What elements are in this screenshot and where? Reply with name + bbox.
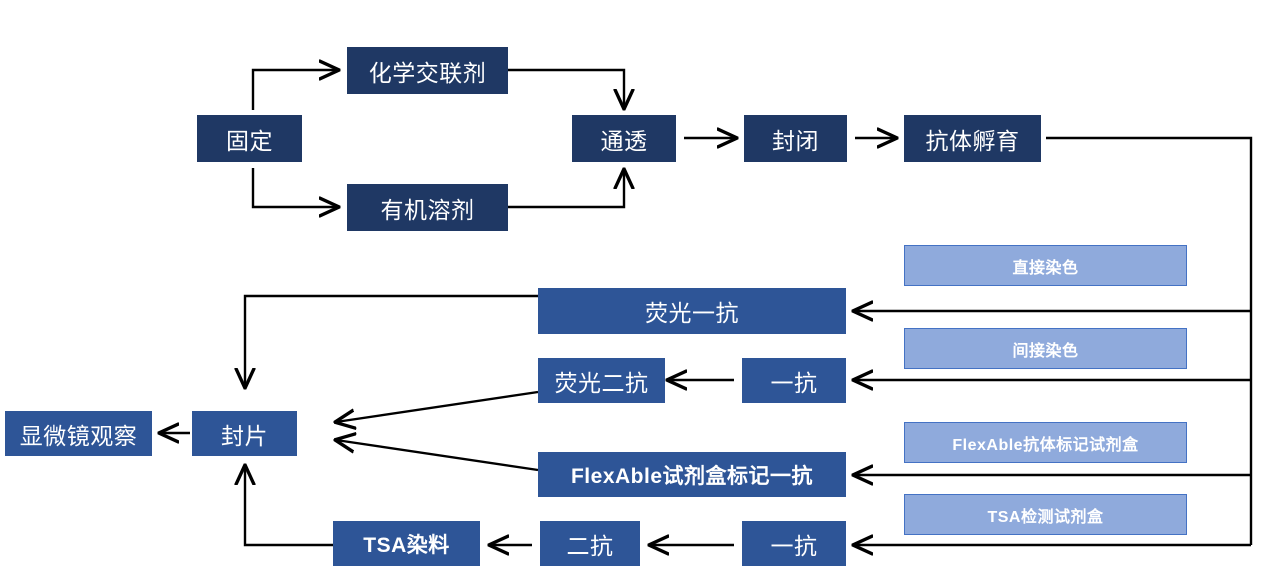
node-tsa-dye-label: TSA染料 bbox=[363, 529, 450, 559]
node-fixation[interactable]: 固定 bbox=[197, 115, 302, 162]
node-chemical-crosslinker[interactable]: 化学交联剂 bbox=[347, 47, 508, 94]
node-secondary-antibody-bottom[interactable]: 二抗 bbox=[540, 521, 640, 566]
node-fixation-label: 固定 bbox=[226, 122, 273, 156]
node-tsa-dye[interactable]: TSA染料 bbox=[333, 521, 480, 566]
node-flexable-labeled-primary-antibody[interactable]: FlexAble试剂盒标记一抗 bbox=[538, 452, 846, 497]
label-indirect-staining-text: 间接染色 bbox=[1012, 337, 1078, 361]
flowchart-canvas: 固定 化学交联剂 有机溶剂 通透 封闭 抗体孵育 直接染色 间接染色 FlexA… bbox=[0, 0, 1262, 585]
node-antibody-incubation-label: 抗体孵育 bbox=[926, 122, 1020, 156]
node-permeabilization[interactable]: 通透 bbox=[572, 115, 676, 162]
node-flexable-labeled-primary-antibody-label: FlexAble试剂盒标记一抗 bbox=[571, 460, 813, 490]
label-tsa-kit[interactable]: TSA检测试剂盒 bbox=[904, 494, 1187, 535]
node-secondary-antibody-bottom-label: 二抗 bbox=[567, 527, 614, 561]
node-microscopy-observation[interactable]: 显微镜观察 bbox=[5, 411, 152, 456]
node-fluorescent-secondary-antibody[interactable]: 荧光二抗 bbox=[538, 358, 665, 403]
connector-flexable-to-mounting bbox=[336, 440, 538, 470]
connector-crosslinker-to-permeabilization bbox=[508, 70, 624, 108]
node-fluorescent-secondary-antibody-label: 荧光二抗 bbox=[555, 364, 649, 398]
node-primary-antibody-middle-label: 一抗 bbox=[771, 364, 818, 398]
label-direct-staining[interactable]: 直接染色 bbox=[904, 245, 1187, 286]
node-fluorescent-primary-antibody[interactable]: 荧光一抗 bbox=[538, 288, 846, 334]
connector-fluor-primary-to-mounting bbox=[245, 296, 538, 387]
node-fluorescent-primary-antibody-label: 荧光一抗 bbox=[645, 294, 739, 328]
label-tsa-kit-text: TSA检测试剂盒 bbox=[987, 503, 1103, 527]
connector-fixation-to-crosslinker bbox=[253, 70, 338, 110]
node-primary-antibody-bottom-label: 一抗 bbox=[771, 527, 818, 561]
connector-fixation-to-solvent bbox=[253, 168, 338, 207]
connector-tsa-to-mounting bbox=[245, 466, 333, 545]
node-antibody-incubation[interactable]: 抗体孵育 bbox=[904, 115, 1041, 162]
node-blocking[interactable]: 封闭 bbox=[744, 115, 847, 162]
node-microscopy-observation-label: 显微镜观察 bbox=[20, 417, 138, 451]
node-mounting[interactable]: 封片 bbox=[192, 411, 297, 456]
label-direct-staining-text: 直接染色 bbox=[1012, 254, 1078, 278]
node-mounting-label: 封片 bbox=[221, 417, 268, 451]
node-primary-antibody-middle[interactable]: 一抗 bbox=[742, 358, 846, 403]
connector-solvent-to-permeabilization bbox=[508, 170, 624, 207]
node-chemical-crosslinker-label: 化学交联剂 bbox=[369, 54, 487, 88]
node-blocking-label: 封闭 bbox=[772, 122, 819, 156]
node-organic-solvent-label: 有机溶剂 bbox=[381, 191, 475, 225]
node-primary-antibody-bottom[interactable]: 一抗 bbox=[742, 521, 846, 566]
node-organic-solvent[interactable]: 有机溶剂 bbox=[347, 184, 508, 231]
node-permeabilization-label: 通透 bbox=[601, 122, 648, 156]
label-indirect-staining[interactable]: 间接染色 bbox=[904, 328, 1187, 369]
connector-fluor-secondary-to-mounting bbox=[336, 392, 538, 422]
label-flexable-kit[interactable]: FlexAble抗体标记试剂盒 bbox=[904, 422, 1187, 463]
label-flexable-kit-text: FlexAble抗体标记试剂盒 bbox=[952, 431, 1138, 455]
